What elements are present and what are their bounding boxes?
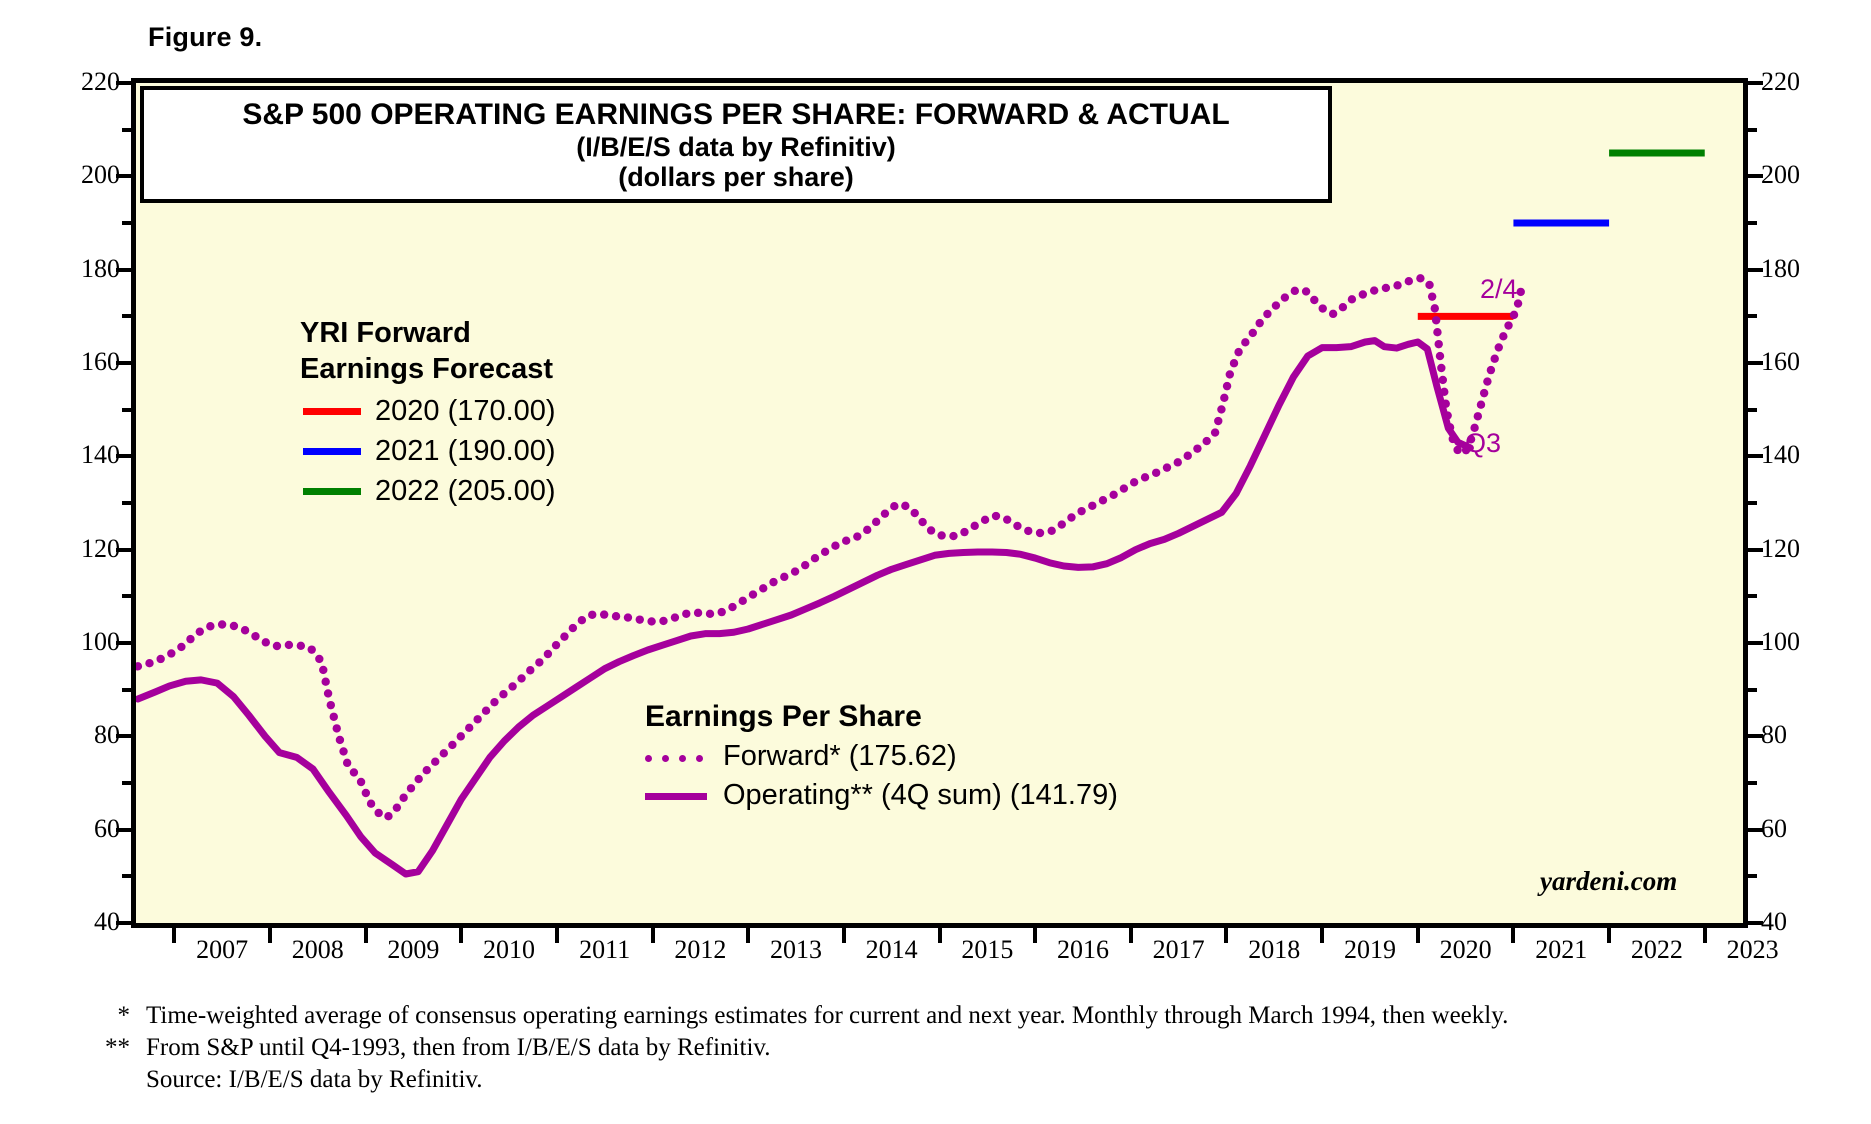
forward-dot <box>1234 348 1242 356</box>
forward-dot <box>682 610 690 618</box>
forward-dot <box>327 701 335 709</box>
x-axis-label: 2022 <box>1602 935 1712 965</box>
forward-dot <box>560 632 568 640</box>
forward-dot <box>1230 359 1238 367</box>
legend-label-forward: Forward* (175.62) <box>723 740 957 773</box>
forward-dot <box>273 642 281 650</box>
forward-dot <box>1058 520 1066 528</box>
forward-dot <box>362 789 370 797</box>
forward-dot <box>367 800 375 808</box>
x-axis-label: 2011 <box>550 935 660 965</box>
forward-dot <box>156 655 164 663</box>
forward-dot <box>1141 473 1149 481</box>
y-axis-label-right: 100 <box>1761 627 1831 657</box>
forward-dot <box>357 778 365 786</box>
footnote-row: Source: I/B/E/S data by Refinitiv. <box>78 1064 1838 1096</box>
forward-dot <box>937 531 945 539</box>
footnote-text: From S&P until Q4-1993, then from I/B/E/… <box>146 1032 1838 1064</box>
forward-dot <box>1393 281 1401 289</box>
forward-dot <box>448 741 456 749</box>
forward-dot <box>1504 321 1512 329</box>
legend-dot <box>696 755 703 762</box>
y-axis-label-left: 40 <box>50 907 120 937</box>
forward-dot <box>901 502 909 510</box>
forward-dot <box>1510 311 1518 319</box>
footnotes: * Time-weighted average of consensus ope… <box>78 1000 1838 1096</box>
x-axis-label: 2014 <box>837 935 947 965</box>
forward-dot <box>1405 277 1413 285</box>
forward-dot <box>1211 428 1219 436</box>
forward-dot <box>890 502 898 510</box>
figure-label: Figure 9. <box>148 22 262 53</box>
x-axis-label: 2021 <box>1506 935 1616 965</box>
forward-dot <box>801 561 809 569</box>
forward-dot <box>694 609 702 617</box>
forward-dot <box>1291 287 1299 295</box>
forward-dot <box>1440 388 1448 396</box>
forward-dot <box>1281 293 1289 301</box>
forward-dot <box>241 626 249 634</box>
forward-dot <box>218 620 226 628</box>
y-axis-label-right: 140 <box>1761 440 1831 470</box>
forward-dot <box>490 698 498 706</box>
x-axis-label: 2013 <box>741 935 851 965</box>
forward-dot <box>863 526 871 534</box>
y-axis-label-right: 80 <box>1761 720 1831 750</box>
forward-dot <box>1174 458 1182 466</box>
forward-dot <box>600 610 608 618</box>
forward-dot <box>1120 484 1128 492</box>
forward-dot <box>1499 332 1507 340</box>
forward-dot <box>336 736 344 744</box>
x-axis-label: 2016 <box>1028 935 1138 965</box>
forward-dot <box>482 707 490 715</box>
forward-dot <box>343 759 351 767</box>
forward-dot <box>1263 310 1271 318</box>
y-axis-label-right: 120 <box>1761 534 1831 564</box>
forecast-legend-item-2021: 2021 (190.00) <box>303 435 556 468</box>
forward-dot <box>1437 364 1445 372</box>
forward-dot <box>1439 376 1447 384</box>
forward-dot <box>1443 411 1451 419</box>
legend-solid-bar <box>645 793 707 800</box>
forward-dot <box>333 724 341 732</box>
yardeni-watermark: yardeni.com <box>1540 866 1677 897</box>
forward-dot <box>297 642 305 650</box>
footnote-row: * Time-weighted average of consensus ope… <box>78 1000 1838 1032</box>
forward-dot <box>1203 437 1211 445</box>
chart-title: S&P 500 OPERATING EARNINGS PER SHARE: FO… <box>242 98 1229 132</box>
forward-dot <box>636 615 644 623</box>
x-axis-label: 2015 <box>932 935 1042 965</box>
forward-dot <box>1099 496 1107 504</box>
forward-dot <box>1495 343 1503 351</box>
forward-dot <box>1487 366 1495 374</box>
forward-dot <box>167 649 175 657</box>
y-axis-label-left: 200 <box>50 160 120 190</box>
forward-dot <box>811 554 819 562</box>
forward-dot <box>1310 296 1318 304</box>
legend-label-2021: 2021 (190.00) <box>375 435 556 468</box>
forward-dot <box>1220 394 1228 402</box>
forward-dot <box>414 775 422 783</box>
forecast-legend-item-2022: 2022 (205.00) <box>303 475 556 508</box>
y-axis-label-left: 80 <box>50 720 120 750</box>
forward-dot <box>659 617 667 625</box>
forward-dot <box>457 732 465 740</box>
forward-dot <box>1214 417 1222 425</box>
forward-dot <box>624 613 632 621</box>
forward-dot <box>1339 303 1347 311</box>
y-axis-label-left: 140 <box>50 440 120 470</box>
forward-dot <box>612 612 620 620</box>
forward-dot <box>1184 452 1192 460</box>
forward-dot <box>671 613 679 621</box>
forecast-legend-title-line1: YRI Forward <box>300 315 556 351</box>
forward-dot <box>1088 502 1096 510</box>
forward-dot <box>1013 522 1021 530</box>
y-axis-label-right: 200 <box>1761 160 1831 190</box>
forward-dot <box>473 715 481 723</box>
x-axis-label: 2018 <box>1219 935 1329 965</box>
forward-dot <box>1217 405 1225 413</box>
legend-swatch-2021 <box>303 448 361 455</box>
forward-dot <box>1446 423 1454 431</box>
forward-dot <box>393 803 401 811</box>
forward-dot <box>927 526 935 534</box>
forward-dot <box>399 794 407 802</box>
forward-dot <box>1480 389 1488 397</box>
forward-dot <box>1428 292 1436 300</box>
forward-dot <box>1319 304 1327 312</box>
eps-legend-item-forward: Forward* (175.62) <box>645 740 1118 773</box>
forward-dot <box>718 608 726 616</box>
forward-dot <box>949 532 957 540</box>
forward-dot <box>981 516 989 524</box>
y-axis-label-right: 40 <box>1761 907 1831 937</box>
forward-dot <box>1517 288 1525 296</box>
y-axis-label-right: 60 <box>1761 814 1831 844</box>
x-axis-label: 2023 <box>1698 935 1808 965</box>
forward-dot <box>251 632 259 640</box>
forward-dot <box>544 650 552 658</box>
forward-dot <box>1477 401 1485 409</box>
forward-dot <box>1109 491 1117 499</box>
x-axis-label: 2007 <box>167 935 277 965</box>
forward-dot <box>647 617 655 625</box>
forward-dot <box>1348 295 1356 303</box>
y-axis-label-right: 180 <box>1761 254 1831 284</box>
forward-dot <box>881 509 889 517</box>
forward-dot <box>960 528 968 536</box>
x-axis-label: 2008 <box>263 935 373 965</box>
forward-dot <box>407 784 415 792</box>
footnote-row: ** From S&P until Q4-1993, then from I/B… <box>78 1032 1838 1064</box>
forward-dot <box>759 584 767 592</box>
forward-dot <box>308 645 316 653</box>
forecast-legend-title-line2: Earnings Forecast <box>300 351 556 387</box>
forward-dot <box>315 655 323 663</box>
y-axis-label-left: 220 <box>50 67 120 97</box>
y-axis-label-right: 160 <box>1761 347 1831 377</box>
forward-dot <box>971 522 979 530</box>
forward-dot <box>1329 310 1337 318</box>
chart-subtitle-source: (I/B/E/S data by Refinitiv) <box>576 132 896 162</box>
forward-dot <box>1382 284 1390 292</box>
forward-dot <box>206 622 214 630</box>
forward-dot <box>872 518 880 526</box>
forward-dot <box>1003 515 1011 523</box>
forward-dot <box>1483 377 1491 385</box>
forward-dot <box>1416 274 1424 282</box>
forward-dot <box>853 532 861 540</box>
forward-dot <box>339 747 347 755</box>
forward-dot <box>1036 529 1044 537</box>
chart-title-box: S&P 500 OPERATING EARNINGS PER SHARE: FO… <box>140 86 1332 203</box>
forward-dot <box>728 603 736 611</box>
forward-dot <box>330 713 338 721</box>
legend-dot <box>645 755 652 762</box>
forward-dot <box>706 610 714 618</box>
legend-label-operating: Operating** (4Q sum) (141.79) <box>723 779 1118 812</box>
y-axis-label-right: 220 <box>1761 67 1831 97</box>
forward-dot <box>1474 412 1482 420</box>
x-axis-label: 2009 <box>358 935 468 965</box>
forward-dot <box>1249 329 1257 337</box>
forward-dot <box>911 509 919 517</box>
forward-dot <box>145 659 153 667</box>
x-axis-label: 2010 <box>454 935 564 965</box>
forward-dot <box>508 682 516 690</box>
forward-dot <box>1226 370 1234 378</box>
forward-dot <box>423 766 431 774</box>
forward-dot <box>1223 382 1231 390</box>
forward-dot <box>1152 469 1160 477</box>
forward-dot <box>1436 352 1444 360</box>
forward-dot <box>1433 328 1441 336</box>
y-axis-label-left: 120 <box>50 534 120 564</box>
forward-dot <box>350 768 358 776</box>
x-axis-label: 2017 <box>1124 935 1234 965</box>
forward-dot <box>842 536 850 544</box>
forward-dot <box>569 624 577 632</box>
forward-dot <box>1130 478 1138 486</box>
forward-dot <box>1491 355 1499 363</box>
y-axis-label-left: 100 <box>50 627 120 657</box>
legend-dot <box>662 755 669 762</box>
forward-dot <box>1431 304 1439 312</box>
forward-dot <box>384 812 392 820</box>
forecast-legend-item-2020: 2020 (170.00) <box>303 395 556 428</box>
forward-dot <box>440 749 448 757</box>
forward-dot <box>177 643 185 651</box>
y-axis-label-left: 60 <box>50 814 120 844</box>
forward-dot <box>535 658 543 666</box>
forward-dot <box>791 567 799 575</box>
forward-dot <box>1255 319 1263 327</box>
legend-swatch-operating <box>645 785 707 807</box>
y-axis-label-left: 160 <box>50 347 120 377</box>
forward-dot <box>1047 527 1055 535</box>
forward-dot <box>1449 435 1457 443</box>
footnote-marker: * <box>78 1000 146 1032</box>
legend-label-2022: 2022 (205.00) <box>375 475 556 508</box>
forward-dot <box>1370 286 1378 294</box>
forward-dot <box>374 809 382 817</box>
forward-dot <box>1432 316 1440 324</box>
forward-dot <box>465 724 473 732</box>
forward-dot <box>136 662 142 670</box>
legend-swatch-2020 <box>303 408 361 415</box>
forward-dot <box>499 690 507 698</box>
forward-dot <box>186 635 194 643</box>
forward-dot <box>552 641 560 649</box>
forward-dot <box>992 512 1000 520</box>
eps-legend-item-operating: Operating** (4Q sum) (141.79) <box>645 779 1118 812</box>
forward-dot <box>262 638 270 646</box>
forward-dot <box>431 758 439 766</box>
forward-dot <box>324 689 332 697</box>
forward-dot <box>1359 290 1367 298</box>
forward-dot <box>230 622 238 630</box>
forward-dot <box>285 641 293 649</box>
chart-subtitle-units: (dollars per share) <box>618 162 854 192</box>
forward-dot <box>196 627 204 635</box>
legend-label-2020: 2020 (170.00) <box>375 395 556 428</box>
footnote-marker: ** <box>78 1032 146 1064</box>
forward-dot <box>1442 400 1450 408</box>
forward-dot <box>1024 527 1032 535</box>
forward-dot <box>780 573 788 581</box>
forward-dot <box>1241 338 1249 346</box>
footnote-source: Source: I/B/E/S data by Refinitiv. <box>146 1064 1838 1096</box>
forward-dot <box>821 548 829 556</box>
eps-series-legend: Earnings Per Share Forward* (175.62) Ope… <box>645 700 1118 812</box>
legend-dot <box>679 755 686 762</box>
forward-dot <box>918 518 926 526</box>
y-axis-label-left: 180 <box>50 254 120 284</box>
forward-dot <box>1272 301 1280 309</box>
legend-swatch-2022 <box>303 488 361 495</box>
forward-dot <box>321 678 329 686</box>
x-axis-label: 2020 <box>1411 935 1521 965</box>
forward-dot <box>749 590 757 598</box>
forward-dot <box>1193 444 1201 452</box>
forward-dot <box>588 611 596 619</box>
forward-dot <box>1067 513 1075 521</box>
forward-dot <box>1425 281 1433 289</box>
forward-dot <box>769 578 777 586</box>
forward-dot <box>1163 463 1171 471</box>
yri-forecast-legend: YRI Forward Earnings Forecast 2020 (170.… <box>300 315 556 508</box>
operating-latest-label: Q3 <box>1465 428 1501 459</box>
forward-dot <box>831 542 839 550</box>
x-axis-label: 2012 <box>645 935 755 965</box>
forward-dot <box>319 666 327 674</box>
forward-dot <box>526 666 534 674</box>
forward-latest-label: 2/4 <box>1480 274 1518 305</box>
forward-dot <box>1453 446 1461 454</box>
footnote-text: Time-weighted average of consensus opera… <box>146 1000 1838 1032</box>
forward-dot <box>1077 507 1085 515</box>
forward-dot <box>1302 287 1310 295</box>
forward-dot <box>517 674 525 682</box>
legend-swatch-forward <box>645 746 707 768</box>
x-axis-label: 2019 <box>1315 935 1425 965</box>
forward-dot <box>1435 340 1443 348</box>
forward-dot <box>578 616 586 624</box>
eps-legend-title: Earnings Per Share <box>645 700 1118 734</box>
forward-dot <box>739 597 747 605</box>
